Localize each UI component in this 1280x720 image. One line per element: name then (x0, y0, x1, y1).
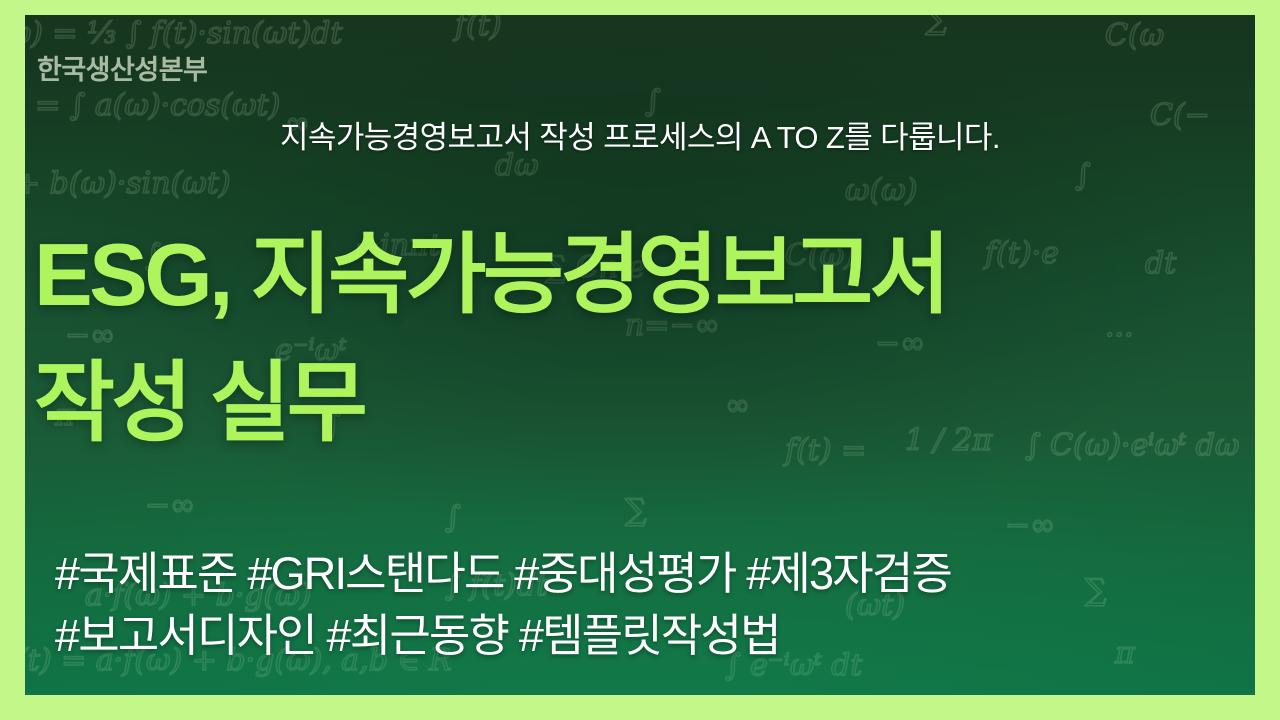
promo-banner: (ω) = ⅓ ∫ f(t)·sin(ωt)dt f(t) ∑ C(ω = ∫ … (0, 0, 1280, 720)
hashtag-line-1: #국제표준 #GRI스탠다드 #중대성평가 #제3자검증 (55, 543, 1255, 605)
organization-logo: 한국생산성본부 (37, 48, 207, 87)
banner-subtitle: 지속가능경영보고서 작성 프로세스의 A TO Z를 다룹니다. (280, 112, 1000, 157)
banner-title: ESG, 지속가능경영보고서 작성 실무 (34, 211, 1255, 466)
title-line-2: 작성 실무 (34, 339, 1255, 467)
banner-content: 한국생산성본부 지속가능경영보고서 작성 프로세스의 A TO Z를 다룹니다.… (25, 15, 1255, 695)
hashtag-line-2: #보고서디자인 #최근동향 #템플릿작성법 (55, 605, 1255, 667)
title-line-1: ESG, 지속가능경영보고서 (34, 211, 1255, 339)
hashtag-list: #국제표준 #GRI스탠다드 #중대성평가 #제3자검증 #보고서디자인 #최근… (55, 543, 1255, 667)
chalkboard-background: (ω) = ⅓ ∫ f(t)·sin(ωt)dt f(t) ∑ C(ω = ∫ … (25, 15, 1255, 695)
